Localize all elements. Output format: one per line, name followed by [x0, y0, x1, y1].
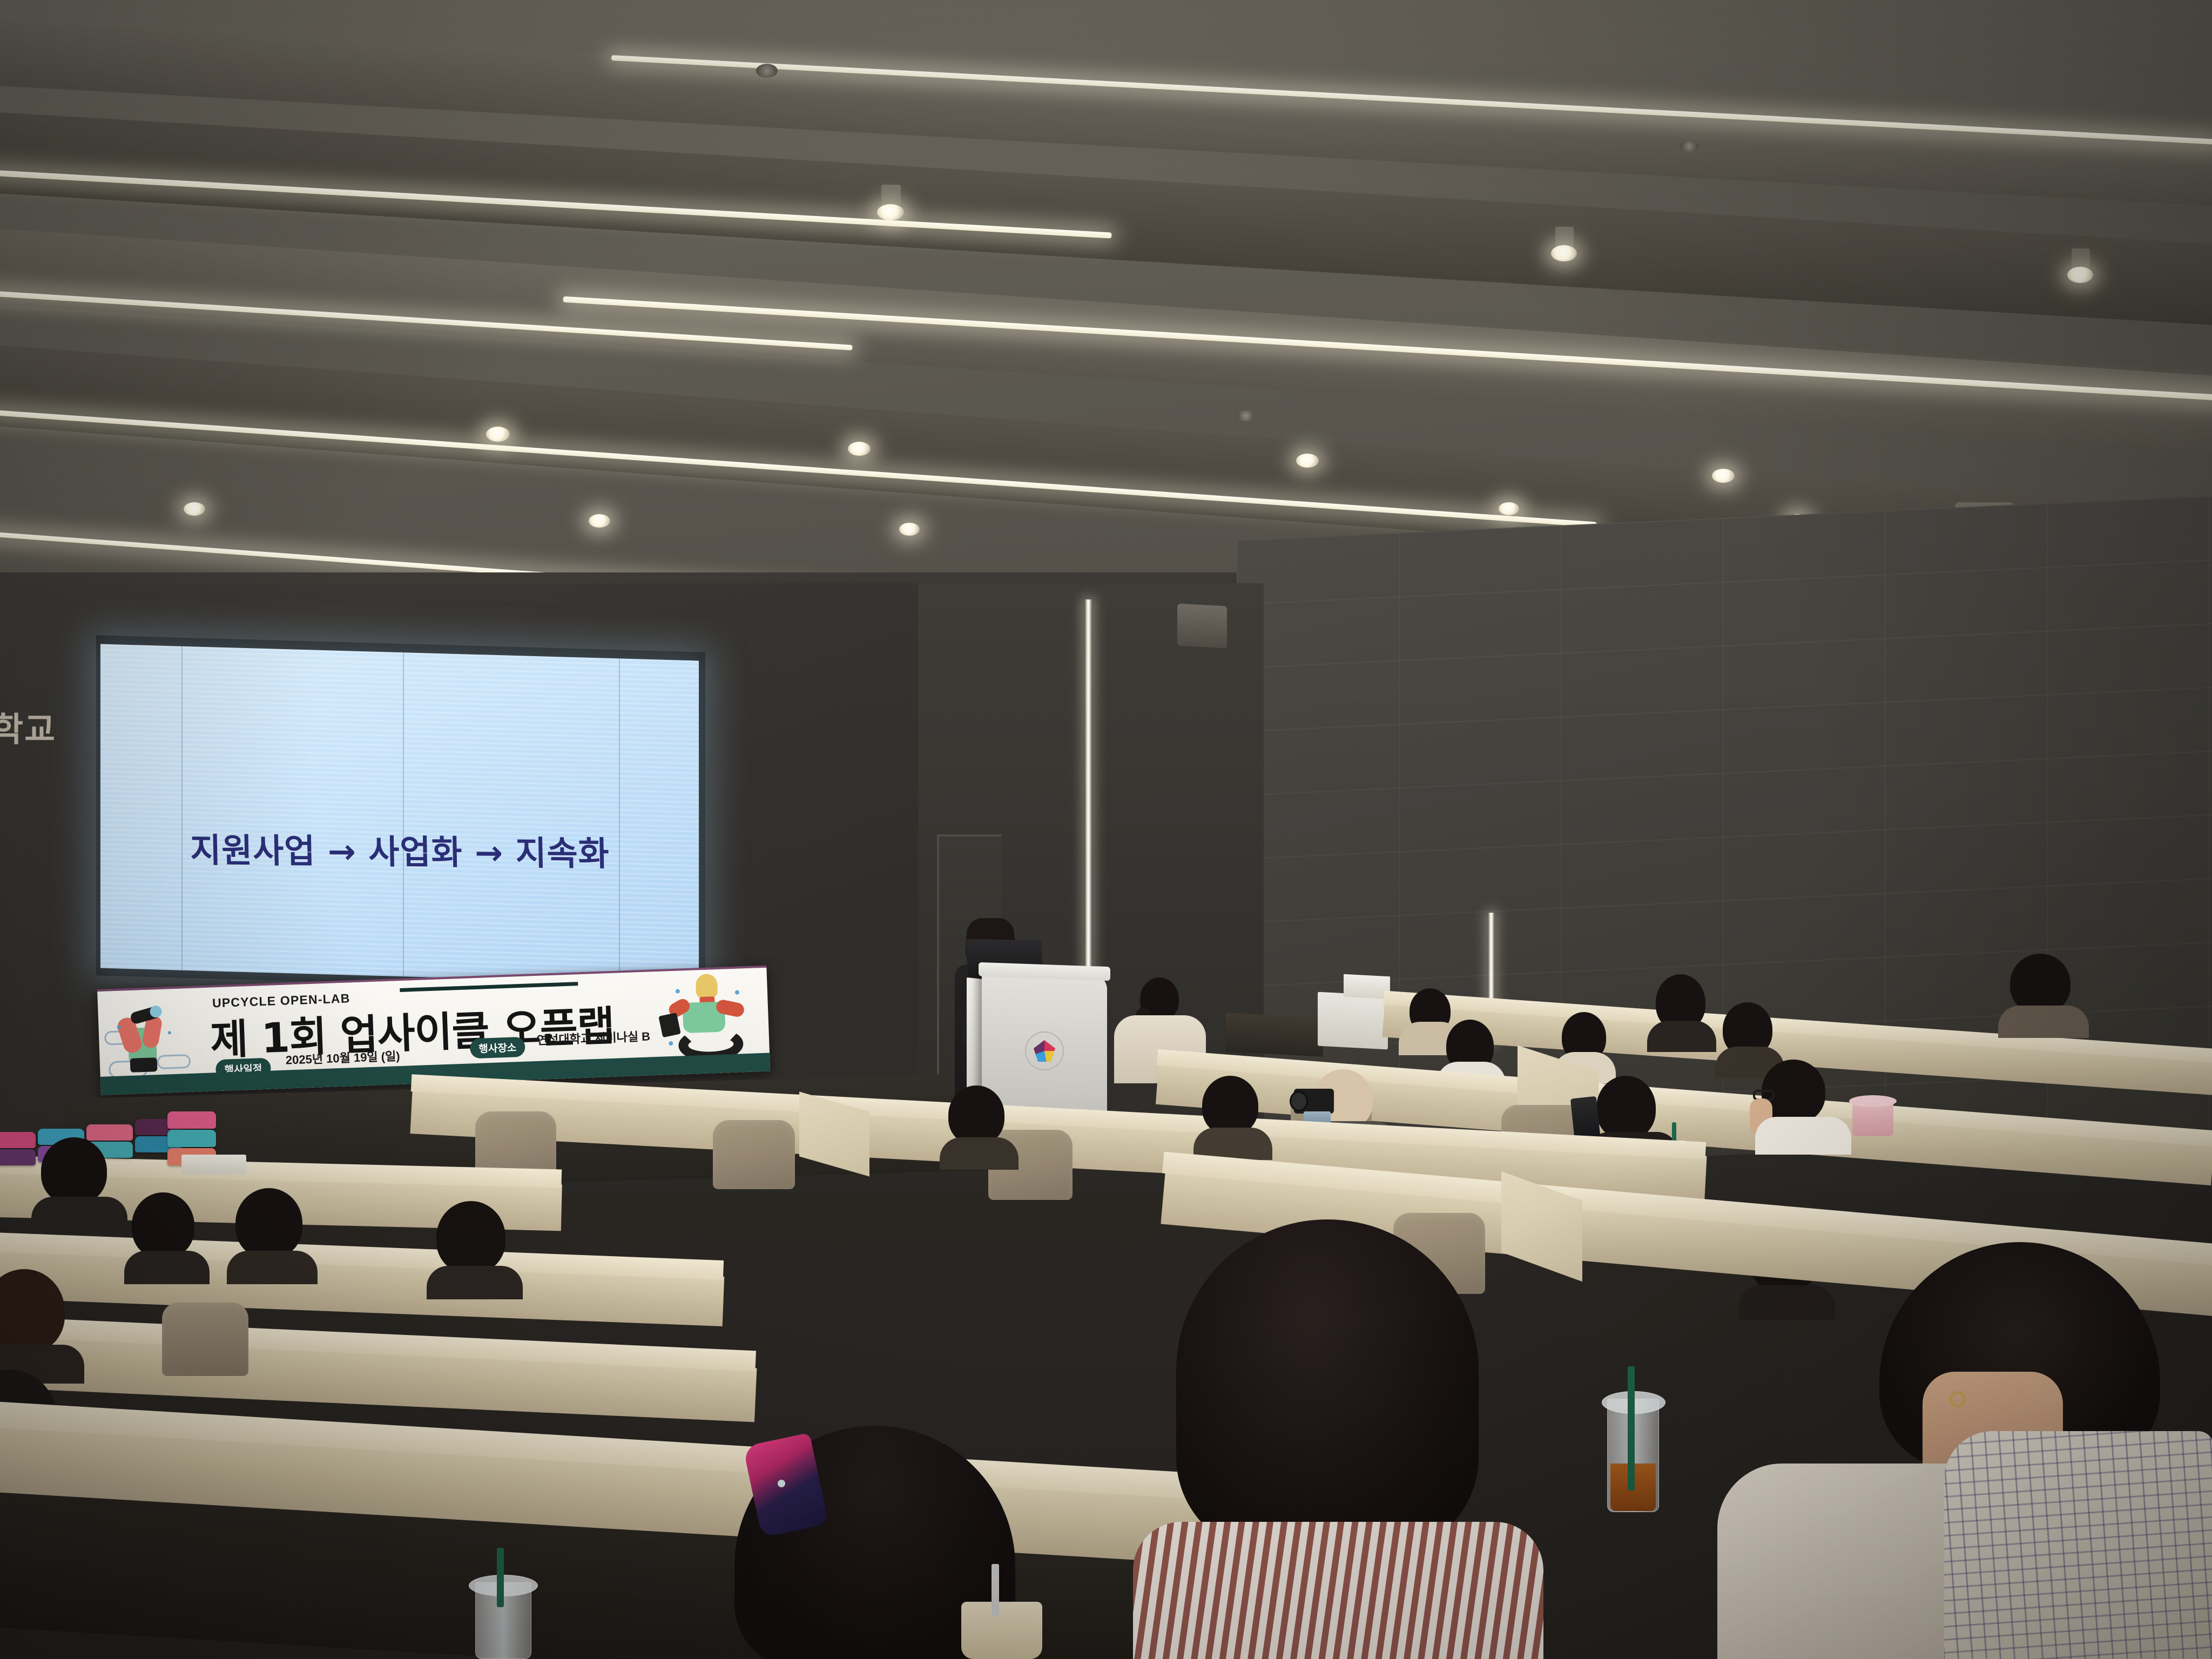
equipment-box-white [1318, 992, 1388, 1050]
sparkle-dot-2 [168, 1031, 171, 1034]
attendee-head [948, 1085, 1004, 1145]
place-label-pill: 행사장소 [470, 1037, 525, 1059]
upcycled-pouch [167, 1130, 216, 1147]
foreground-cup-3-straw [992, 1564, 999, 1616]
camera-lens-icon [1290, 1091, 1308, 1111]
attendee-fg-striped-shirt [1133, 1219, 1543, 1659]
university-emblem-icon [1025, 1031, 1064, 1070]
sparkle-dot-4 [735, 990, 739, 994]
attendee-torso [124, 1251, 210, 1284]
attendee-head [235, 1188, 302, 1258]
hair-clip-dot [778, 1480, 785, 1487]
attendee-hair [1176, 1219, 1479, 1554]
attendee-head [0, 1269, 65, 1353]
slide-content: 지원사업 → 사업화 → 지속화 [100, 644, 699, 985]
sprinkler-head-2 [1680, 140, 1699, 152]
attendee-l2 [227, 1188, 319, 1280]
ceiling-downlight-10 [899, 523, 920, 536]
attendee-c2 [1193, 1076, 1274, 1151]
attendee-earring-icon [1950, 1391, 1966, 1407]
attendee-torso [1998, 1006, 2089, 1038]
ceiling-downlight-1 [877, 204, 904, 220]
sparkle-dot-5 [669, 1041, 673, 1046]
wall-vertical-light-strip-1 [1084, 599, 1092, 977]
attendee-torso [427, 1266, 523, 1299]
foreground-cup-3 [961, 1602, 1042, 1659]
ceiling-downlight-6 [1296, 454, 1319, 468]
ceiling-downlight-9 [589, 514, 610, 528]
attendee-torso [227, 1251, 318, 1284]
chair-center-2 [713, 1120, 795, 1189]
attendee-head [1596, 1076, 1656, 1139]
presenter-fringe [967, 918, 1014, 940]
attendee-head [132, 1192, 194, 1258]
ceiling-downlight-5 [848, 442, 871, 456]
emblem-crest-shape [1034, 1040, 1055, 1062]
attendee-torso [940, 1137, 1019, 1170]
slide-headline: 지원사업 → 사업화 → 지속화 [190, 823, 610, 875]
display-tray [181, 1155, 246, 1174]
attendee-torso [1739, 1285, 1835, 1320]
attendee-r4 [1647, 974, 1717, 1044]
attendee-torso [1647, 1021, 1716, 1052]
cloud-shape-3 [157, 1054, 191, 1069]
upcycled-pouch [0, 1149, 36, 1165]
ceiling-downlight-7 [1712, 469, 1735, 483]
date-value: 2025년 10월 19일 (일) [285, 1047, 400, 1068]
ceiling-downlight-11 [1499, 502, 1519, 515]
attendee-l1 [124, 1192, 211, 1279]
attendee-head [41, 1137, 107, 1204]
attendee-far-right-top [1998, 954, 2090, 1035]
ceiling-downlight-2 [1551, 245, 1577, 261]
attendee-head [2010, 954, 2071, 1013]
attendee-left-display-viewer [31, 1137, 129, 1229]
banner-rule [400, 982, 578, 992]
iced-tea-straw [1628, 1366, 1635, 1491]
ceiling-downlight-8 [184, 502, 205, 516]
attendee-l3 [427, 1201, 524, 1293]
ceiling-downlight-4 [486, 427, 510, 442]
sprinkler-head-1 [756, 64, 778, 78]
sprinkler-head-3 [1237, 410, 1255, 421]
attendee-tweed-vest [1944, 1431, 2212, 1659]
attendee-head [1202, 1076, 1258, 1135]
attendee-head [436, 1201, 505, 1273]
foreground-cup-2-straw [497, 1548, 504, 1607]
ceiling-downlight-3 [2067, 267, 2093, 283]
attendee-fg-tweed-vest [1717, 1339, 2212, 1659]
chair-left-lower-1 [162, 1303, 248, 1376]
attendee-glasses-man [1750, 1060, 1852, 1151]
lecture-hall-photo: 학교 지원사업 → 사업화 → 지속화 [0, 0, 2212, 1659]
attendee-torso [1755, 1117, 1851, 1155]
equipment-case-dark [1226, 1013, 1323, 1056]
wall-sign-text: 학교 [0, 702, 73, 751]
upcycled-pouch [167, 1111, 216, 1129]
wall-speaker [1177, 604, 1227, 649]
attendee-c1 [940, 1085, 1021, 1161]
place-value: 연성대학교 세미나실 B [536, 1027, 650, 1048]
attendee-torso [31, 1197, 127, 1232]
attendee-l5 [0, 1269, 86, 1377]
sparkle-dot-3 [676, 989, 680, 993]
upcycled-pouch [0, 1132, 36, 1148]
attendee-shirt-striped [1133, 1522, 1543, 1659]
pink-cup-lid [1849, 1095, 1897, 1107]
